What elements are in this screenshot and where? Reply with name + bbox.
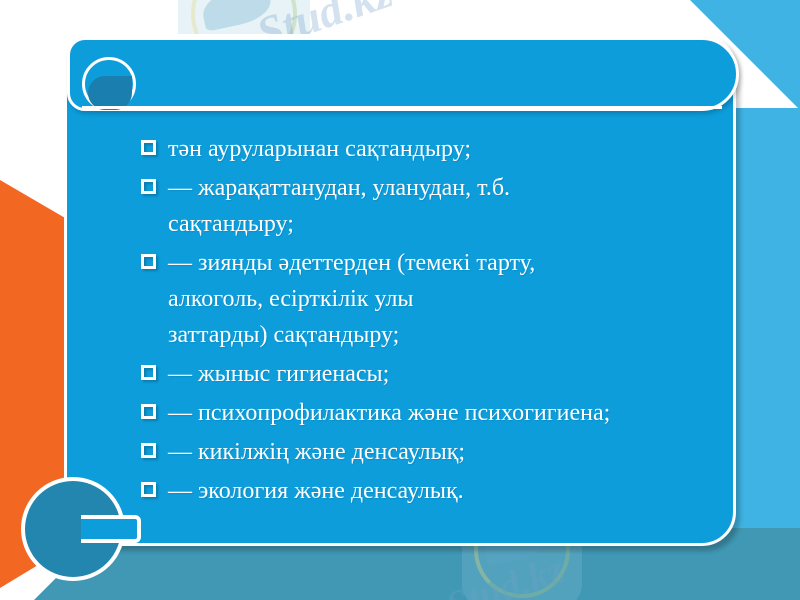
list-item: — жыныс гигиенасы; [141,356,781,392]
ring-fill-decoration-icon [88,76,132,110]
list-item: — кикілжің және денсаулық; [141,434,781,470]
list-item: тән ауруларынан сақтандыру; [141,131,781,167]
checkbox-bullet-icon [141,179,156,194]
list-item: — экология және денсаулық. [141,473,781,509]
list-item-label: — кикілжің және денсаулық; [168,434,781,470]
card-header-band [67,37,739,111]
checkbox-bullet-icon [141,140,156,155]
list-item-label: — экология және денсаулық. [168,473,781,509]
list-item-label: — зиянды әдеттерден (темекі тарту, алког… [168,245,781,353]
checkbox-bullet-icon [141,254,156,269]
bullet-list: тән ауруларынан сақтандыру;— жарақаттану… [141,131,781,512]
list-item-label: — психопрофилактика және психогигиена; [168,395,781,431]
slide-canvas: Stud.kz Stud.kz – Stud.kz Stud.kz Stud.k… [0,0,800,600]
list-item-label: — жарақаттанудан, уланудан, т.б. сақтанд… [168,170,781,242]
list-item: — зиянды әдеттерден (темекі тарту, алког… [141,245,781,353]
e-swoosh-notch-decoration [81,515,141,543]
checkbox-bullet-icon [141,443,156,458]
list-item: — жарақаттанудан, уланудан, т.б. сақтанд… [141,170,781,242]
header-underline-rule [82,106,722,109]
checkbox-bullet-icon [141,365,156,380]
checkbox-bullet-icon [141,404,156,419]
list-item-label: — жыныс гигиенасы; [168,356,781,392]
list-item-label: тән ауруларынан сақтандыру; [168,131,781,167]
checkbox-bullet-icon [141,482,156,497]
content-card: тән ауруларынан сақтандыру;— жарақаттану… [64,34,736,546]
list-item: — психопрофилактика және психогигиена; [141,395,781,431]
